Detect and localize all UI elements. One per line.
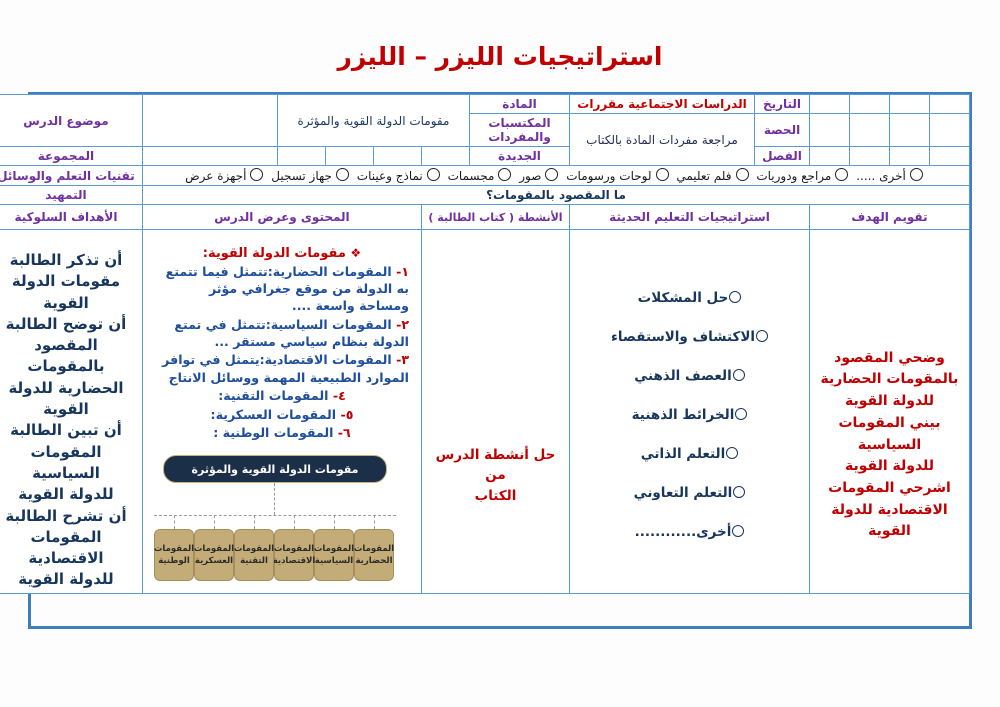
page-title: استراتيجيات الليزر – الليزر xyxy=(0,42,1000,71)
objective-line: القوية xyxy=(0,399,134,420)
evaluation-line: وضحي المقصود xyxy=(814,348,965,370)
content-item-text: المقومات الحضارية:تتمثل فيما تتمتع به ال… xyxy=(166,264,409,314)
body-row: وضحي المقصود بالمقومات الحضارية للدولة ا… xyxy=(0,230,970,594)
content-item-number: ١- xyxy=(396,264,409,279)
group-cell-5[interactable] xyxy=(142,147,277,166)
activities-line-2: الكتاب xyxy=(426,486,565,506)
activities-text: حل أنشطة الدرس من الكتاب xyxy=(426,323,565,506)
objective-line: المقصود بالمقومات xyxy=(0,335,134,378)
content-item-text: المقومات التقنية: xyxy=(218,388,328,403)
checkbox-circle-icon[interactable] xyxy=(733,369,745,381)
content-item-number: ٢- xyxy=(396,317,409,332)
group-cell-1[interactable] xyxy=(422,147,470,166)
tech-option-1[interactable]: أجهزة عرض xyxy=(185,169,267,183)
content-list: ١- المقومات الحضارية:تتمثل فيما تتمتع به… xyxy=(155,263,409,442)
column-header-evaluation: تقويم الهدف xyxy=(810,205,970,230)
new-vocab-value: مراجعة مفردات المادة بالكتاب xyxy=(570,114,755,166)
header-row-3: الفصل الجديدة المجموعة xyxy=(0,147,970,166)
radio-icon-3[interactable] xyxy=(427,168,440,181)
period-cell-3[interactable] xyxy=(850,114,890,147)
content-heading: ❖ مقومات الدولة القوية: xyxy=(155,246,409,261)
evaluation-line: بالمقومات الحضارية xyxy=(814,369,965,391)
objective-line: مقومات الدولة القوية xyxy=(0,271,134,314)
content-item-number: ٣- xyxy=(396,352,409,367)
activities-line-1: حل أنشطة الدرس من xyxy=(426,445,565,486)
strategies-list: حل المشكلات الاكتشاف والاستقصاء العصف ال… xyxy=(574,266,805,540)
date-cell-1[interactable] xyxy=(930,95,970,114)
group-label: المجموعة xyxy=(0,147,142,166)
objective-line: للدولة القوية xyxy=(0,569,134,590)
org-chart-leaf: المقومات السياسية xyxy=(314,529,354,581)
lesson-topic-label: موضوع الدرس xyxy=(0,95,142,147)
group-cell-4[interactable] xyxy=(277,147,325,166)
strategy-item[interactable]: الخرائط الذهنية xyxy=(580,407,799,423)
period-cell-4[interactable] xyxy=(810,114,850,147)
content-cell: ❖ مقومات الدولة القوية: ١- المقومات الحض… xyxy=(142,230,421,594)
date-label: التاريخ xyxy=(755,95,810,114)
subject-value: الدراسات الاجتماعية مقررات xyxy=(570,95,755,114)
evaluation-line: الاقتصادية للدولة القوية xyxy=(814,500,965,543)
org-chart-drop xyxy=(294,515,295,529)
radio-icon-8[interactable] xyxy=(835,168,848,181)
content-item: ٥- المقومات العسكرية: xyxy=(155,406,409,423)
content-item: ٣- المقومات الاقتصادية:يتمثل في توافر ال… xyxy=(155,351,409,386)
content-item: ١- المقومات الحضارية:تتمثل فيما تتمتع به… xyxy=(155,263,409,315)
content-heading-text: مقومات الدولة القوية: xyxy=(203,246,346,261)
checkbox-circle-icon[interactable] xyxy=(732,525,744,537)
content-item-text: المقومات العسكرية: xyxy=(211,407,337,422)
class-cell-1[interactable] xyxy=(930,147,970,166)
content-item-text: المقومات السياسية:تتمثل في تمتع الدولة ب… xyxy=(174,317,409,349)
org-chart-drop xyxy=(374,515,375,529)
org-chart-bus xyxy=(154,515,396,516)
date-cell-2[interactable] xyxy=(890,95,930,114)
objective-line: الحضارية للدولة xyxy=(0,378,134,399)
technologies-label: تقنيات التعلم والوسائل xyxy=(0,166,142,186)
org-chart-drop xyxy=(174,515,175,529)
radio-icon-6[interactable] xyxy=(656,168,669,181)
checkbox-circle-icon[interactable] xyxy=(729,291,741,303)
lesson-plan-table: التاريخ الدراسات الاجتماعية مقررات الماد… xyxy=(0,94,970,594)
column-header-row: تقويم الهدف استراتيجيات التعليم الحديثة … xyxy=(0,205,970,230)
checkbox-circle-icon[interactable] xyxy=(726,447,738,459)
lesson-plan-page: استراتيجيات الليزر – الليزر التاريخ الدر… xyxy=(0,0,1000,707)
evaluation-line: اشرحي المقومات xyxy=(814,478,965,500)
content-item: ٦- المقومات الوطنية : xyxy=(155,424,409,441)
checkbox-circle-icon[interactable] xyxy=(733,486,745,498)
radio-icon-9[interactable] xyxy=(910,168,923,181)
objective-line: أن تبين الطالبة xyxy=(0,420,134,441)
evaluation-cell: وضحي المقصود بالمقومات الحضارية للدولة ا… xyxy=(810,230,970,594)
intro-row: ما المقصود بالمقومات؟ التمهيد xyxy=(0,186,970,205)
evaluation-list: وضحي المقصود بالمقومات الحضارية للدولة ا… xyxy=(814,286,965,543)
new-vocab-label-line2: الجديدة xyxy=(470,147,570,166)
content-item-number: ٦- xyxy=(338,425,351,440)
org-chart-leaf: المقومات الحضارية xyxy=(354,529,394,581)
class-cell-2[interactable] xyxy=(890,147,930,166)
content-body: ❖ مقومات الدولة القوية: ١- المقومات الحض… xyxy=(147,242,417,588)
activities-cell: حل أنشطة الدرس من الكتاب xyxy=(422,230,570,594)
period-label: الحصة xyxy=(755,114,810,147)
content-item: ٢- المقومات السياسية:تتمثل في تمتع الدول… xyxy=(155,316,409,351)
intro-label: التمهيد xyxy=(0,186,142,205)
content-item-number: ٥- xyxy=(340,407,353,422)
lesson-topic-value-spacer xyxy=(142,95,277,147)
period-cell-2[interactable] xyxy=(890,114,930,147)
strategy-item[interactable]: حل المشكلات xyxy=(580,290,799,306)
objective-line: أن تذكر الطالبة xyxy=(0,250,134,271)
org-chart-leaf: المقومات التقنية xyxy=(234,529,274,581)
content-item-text: المقومات الوطنية : xyxy=(213,425,333,440)
group-cell-3[interactable] xyxy=(326,147,374,166)
tech-option-5[interactable]: صور xyxy=(519,169,562,183)
intro-value: ما المقصود بالمقومات؟ xyxy=(142,186,969,205)
strategy-item[interactable]: أخرى............ xyxy=(580,524,799,540)
strategy-item[interactable]: العصف الذهني xyxy=(580,368,799,384)
class-label: الفصل xyxy=(755,147,810,166)
tech-option-9[interactable]: أخرى ..... xyxy=(856,169,927,183)
new-vocab-label-line1: المكتسبات والمفردات xyxy=(470,114,570,147)
checkbox-circle-icon[interactable] xyxy=(756,330,768,342)
column-header-content: المحتوى وعرض الدرس xyxy=(142,205,421,230)
column-header-strategies: استراتيجيات التعليم الحديثة xyxy=(570,205,810,230)
objective-line: للدولة القوية xyxy=(0,484,134,505)
checkbox-circle-icon[interactable] xyxy=(735,408,747,420)
objectives-list: أن تذكر الطالبة مقومات الدولة القوية أن … xyxy=(0,238,138,591)
strategies-cell: حل المشكلات الاكتشاف والاستقصاء العصف ال… xyxy=(570,230,810,594)
radio-icon-2[interactable] xyxy=(336,168,349,181)
content-item: ٤- المقومات التقنية: xyxy=(155,387,409,404)
org-chart-drop xyxy=(334,515,335,529)
evaluation-line: للدولة القوية xyxy=(814,456,965,478)
org-chart-root: مقومات الدولة القوية والمؤثرة xyxy=(163,455,387,483)
column-header-objectives: الأهداف السلوكية xyxy=(0,205,142,230)
column-header-activities: الأنشطة ( كتاب الطالبة ) xyxy=(422,205,570,230)
objective-line: أن تشرح الطالبة xyxy=(0,506,134,527)
evaluation-line: للدولة القوية xyxy=(814,391,965,413)
technologies-row: أخرى ..... مراجع ودوريات فلم تعليمي لوحا… xyxy=(0,166,970,186)
org-chart-drop xyxy=(254,515,255,529)
org-chart-drop xyxy=(214,515,215,529)
tech-option-4[interactable]: مجسمات xyxy=(448,169,516,183)
radio-icon-1[interactable] xyxy=(250,168,263,181)
tech-option-6[interactable]: لوحات ورسومات xyxy=(566,169,672,183)
org-chart-leaf: المقومات العسكرية xyxy=(194,529,234,581)
header-row-1: التاريخ الدراسات الاجتماعية مقررات الماد… xyxy=(0,95,970,114)
date-cell-3[interactable] xyxy=(850,95,890,114)
objective-line: المقومات السياسية xyxy=(0,442,134,485)
group-cell-2[interactable] xyxy=(374,147,422,166)
period-cell-1[interactable] xyxy=(930,114,970,147)
subject-label: المادة xyxy=(470,95,570,114)
content-item-text: المقومات الاقتصادية:يتمثل في توافر الموا… xyxy=(162,352,409,384)
objective-line: أن توضح الطالبة xyxy=(0,314,134,335)
org-chart-leaf: المقومات الاقتصادية xyxy=(274,529,314,581)
objective-line: المقومات الاقتصادية xyxy=(0,527,134,570)
org-chart-leaf: المقومات الوطنية xyxy=(154,529,194,581)
objectives-cell: أن تذكر الطالبة مقومات الدولة القوية أن … xyxy=(0,230,142,594)
radio-icon-5[interactable] xyxy=(545,168,558,181)
evaluation-line: بيني المقومات السياسية xyxy=(814,413,965,456)
strategy-item[interactable]: الاكتشاف والاستقصاء xyxy=(580,329,799,345)
tech-option-7[interactable]: فلم تعليمي xyxy=(676,169,752,183)
radio-icon-7[interactable] xyxy=(736,168,749,181)
lesson-topic-value: مقومات الدولة القوية والمؤثرة xyxy=(277,95,469,147)
tech-option-3[interactable]: نماذج وعينات xyxy=(357,169,444,183)
class-cell-3[interactable] xyxy=(850,147,890,166)
strategy-item[interactable]: التعلم التعاوني xyxy=(580,485,799,501)
org-chart-stem xyxy=(274,483,275,515)
radio-icon-4[interactable] xyxy=(498,168,511,181)
diamond-bullet-icon: ❖ xyxy=(350,246,361,260)
date-cell-4[interactable] xyxy=(810,95,850,114)
org-chart: مقومات الدولة القوية والمؤثرة المقومات ا… xyxy=(141,455,409,587)
technologies-options: أخرى ..... مراجع ودوريات فلم تعليمي لوحا… xyxy=(142,166,969,186)
content-item-number: ٤- xyxy=(333,388,346,403)
tech-option-8[interactable]: مراجع ودوريات xyxy=(756,169,852,183)
tech-option-2[interactable]: جهاز تسجيل xyxy=(271,169,353,183)
strategy-item[interactable]: التعلم الذاتي xyxy=(580,446,799,462)
class-cell-4[interactable] xyxy=(810,147,850,166)
